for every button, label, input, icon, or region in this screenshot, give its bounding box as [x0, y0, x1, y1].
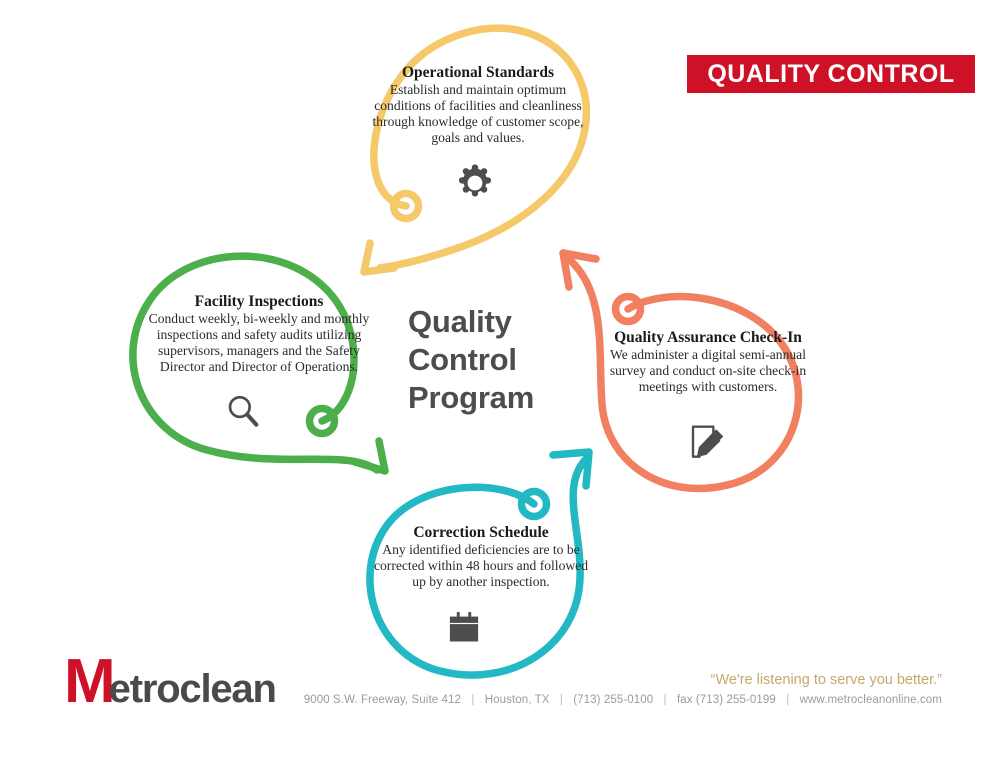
node-body: Establish and maintain optimum condition… [367, 82, 589, 146]
node-title: Correction Schedule [370, 524, 592, 541]
center-title-line-2: Control [408, 341, 588, 379]
contact-separator: | [464, 694, 481, 706]
contact-fax: fax (713) 255-0199 [677, 694, 776, 706]
center-program-title: Quality Control Program [408, 303, 588, 416]
node-correction-schedule: Correction Schedule Any identified defic… [370, 524, 592, 590]
contact-separator: | [657, 694, 674, 706]
contact-separator: | [779, 694, 796, 706]
contact-separator: | [553, 694, 570, 706]
contact-website[interactable]: www.metrocleanonline.com [800, 694, 942, 706]
node-body: Conduct weekly, bi-weekly and monthly in… [139, 311, 379, 375]
node-title: Facility Inspections [139, 293, 379, 310]
logo-wordmark: etroclean [109, 671, 276, 707]
contact-address: 9000 S.W. Freeway, Suite 412 [304, 694, 461, 706]
node-title: Operational Standards [367, 64, 589, 81]
node-body: Any identified deficiencies are to be co… [370, 542, 592, 590]
center-title-line-3: Program [408, 379, 588, 417]
calendar-icon [443, 607, 485, 649]
node-operational-standards: Operational Standards Establish and main… [367, 64, 589, 146]
contact-city: Houston, TX [485, 694, 550, 706]
magnifier-icon [220, 388, 266, 434]
logo-mark: M [64, 658, 113, 706]
node-title: Quality Assurance Check-In [600, 329, 816, 346]
center-title-line-1: Quality [408, 303, 588, 341]
quality-control-banner-label: QUALITY CONTROL [707, 62, 954, 87]
gear-icon [452, 160, 498, 206]
document-edit-icon [684, 420, 730, 466]
node-quality-assurance-check-in: Quality Assurance Check-In We administer… [600, 329, 816, 395]
node-facility-inspections: Facility Inspections Conduct weekly, bi-… [139, 293, 379, 375]
node-body: We administer a digital semi-annual surv… [600, 347, 816, 395]
contact-phone[interactable]: (713) 255-0100 [573, 694, 653, 706]
quality-control-banner: QUALITY CONTROL [687, 55, 975, 93]
contact-info-line: 9000 S.W. Freeway, Suite 412 | Houston, … [304, 694, 942, 706]
company-tagline: “We're listening to serve you better.” [711, 672, 942, 688]
quality-control-infographic: QUALITY CONTROL Operational Standards Es… [0, 0, 1000, 773]
metroclean-logo: M etroclean [64, 658, 276, 704]
